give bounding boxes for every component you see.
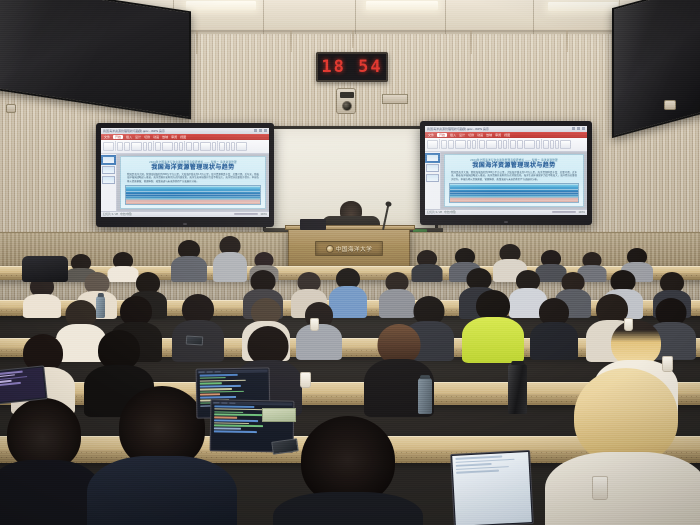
ribbon-tab-2[interactable]: 插入 — [126, 135, 132, 139]
laptop-bright-right[interactable] — [450, 450, 534, 525]
notebook[interactable] — [262, 408, 296, 422]
paper-cup[interactable] — [310, 318, 319, 331]
status-bar: 幻灯片 3 / 28 中文(中国) 100% — [425, 209, 587, 215]
slide-ocean-photo — [449, 183, 579, 203]
slide-ocean-photo — [125, 185, 261, 205]
ribbon-tab-4[interactable]: 切换 — [144, 135, 150, 139]
university-name: 中国海洋大学 — [336, 245, 373, 253]
document-screen[interactable] — [0, 367, 45, 402]
slide-thumbnail[interactable] — [102, 176, 115, 184]
blonde-foreground-head — [574, 368, 678, 464]
ribbon-button[interactable] — [143, 142, 147, 151]
zoom-slider[interactable] — [552, 211, 576, 213]
clock-time: 18 54 — [321, 57, 382, 77]
ribbon-button[interactable] — [486, 140, 497, 149]
ribbon-button[interactable] — [212, 142, 216, 151]
zoom-level[interactable]: 100% — [578, 211, 585, 214]
ribbon-button[interactable] — [550, 140, 554, 149]
ribbon-button[interactable] — [226, 142, 230, 151]
right-wall-tv[interactable] — [612, 0, 700, 138]
university-plaque: 中国海洋大学 — [315, 241, 383, 256]
ribbon-tab-8[interactable]: 视图 — [504, 133, 510, 137]
ribbon-tab-3[interactable]: 设计 — [459, 133, 465, 137]
ribbon-button[interactable] — [193, 142, 199, 151]
app-title: 我国海洋资源管理现状与趋势.pptx - WPS 演示 — [103, 129, 165, 133]
window-controls[interactable] — [572, 127, 585, 130]
water-bottle[interactable] — [418, 378, 432, 414]
slide-thumbnail[interactable] — [102, 156, 115, 164]
ribbon-tab-8[interactable]: 视图 — [180, 135, 186, 139]
app-title: 我国海洋资源管理现状与趋势.pptx - WPS 演示 — [427, 127, 489, 131]
slide-title: 我国海洋资源管理现状与趋势 — [449, 163, 579, 170]
paper-cup[interactable] — [624, 318, 633, 331]
ribbon-button[interactable] — [503, 140, 507, 149]
slide-canvas[interactable]: 2024年全国海洋与渔业资源管理高级研修班 —— 专题二 海洋资源管理 我国海洋… — [117, 154, 269, 211]
ribbon-tab-7[interactable]: 审阅 — [495, 133, 501, 137]
ribbon-button[interactable] — [448, 140, 454, 149]
zoom-slider[interactable] — [234, 213, 258, 215]
display-surface: 我国海洋资源管理现状与趋势.pptx - WPS 演示 文件 开始 插入 设计 … — [101, 128, 269, 217]
slide-thumbnail-pane[interactable] — [101, 154, 117, 211]
ponytail-head — [378, 324, 421, 364]
ribbon-button[interactable] — [455, 140, 466, 149]
ribbon-tab-5[interactable]: 动画 — [153, 135, 159, 139]
zoom-level[interactable]: 100% — [260, 213, 267, 216]
ribbon-button[interactable] — [427, 140, 438, 149]
bag[interactable] — [22, 256, 68, 282]
navy-jacket-student — [87, 456, 237, 525]
ribbon-tab-1[interactable]: 开始 — [437, 133, 447, 137]
display-indicator-led — [504, 221, 508, 223]
paper-cup[interactable] — [300, 372, 311, 388]
language-indicator[interactable]: 中文(中国) — [444, 210, 456, 214]
status-bar: 幻灯片 3 / 28 中文(中国) 100% — [101, 211, 269, 217]
ribbon-button[interactable] — [124, 142, 130, 151]
presentation-slide: 2024年全国海洋与渔业资源管理高级研修班 —— 专题二 海洋资源管理 我国海洋… — [120, 156, 266, 209]
ribbon-button[interactable] — [517, 140, 523, 149]
audience-member — [0, 398, 92, 525]
lecture-hall-scene: 18 54 我国海洋资源管理现状与趋势.pptx - WPS 演示 文件 开始 … — [0, 0, 700, 525]
ribbon-button[interactable] — [472, 140, 476, 149]
slide-counter: 幻灯片 3 / 28 — [103, 212, 118, 216]
ribbon-button[interactable] — [498, 140, 502, 149]
audience-member — [298, 302, 340, 358]
slide-thumbnail[interactable] — [102, 166, 115, 174]
wall-camera — [336, 88, 356, 114]
paper-cup[interactable] — [592, 476, 608, 500]
ribbon-button[interactable] — [200, 142, 211, 151]
tv-glare — [614, 0, 700, 136]
ribbon-tab-5[interactable]: 动画 — [477, 133, 483, 137]
wall-outlet — [6, 104, 16, 113]
ribbon-button[interactable] — [524, 140, 535, 149]
ribbon-button[interactable] — [174, 142, 178, 151]
ribbon-button[interactable] — [131, 142, 142, 151]
window-controls[interactable] — [254, 129, 267, 132]
ribbon-button[interactable] — [162, 142, 173, 151]
ribbon-button[interactable] — [117, 142, 123, 151]
slide-title: 我国海洋资源管理现状与趋势 — [125, 165, 261, 172]
ribbon-button[interactable] — [231, 142, 235, 151]
ribbon-button[interactable] — [186, 142, 192, 151]
camera-vent — [340, 92, 354, 98]
audience-member — [174, 294, 222, 358]
ribbon-tab-6[interactable]: 放映 — [162, 135, 168, 139]
left-projection-display[interactable]: 我国海洋资源管理现状与趋势.pptx - WPS 演示 文件 开始 插入 设计 … — [96, 123, 274, 227]
wall-outlet — [664, 100, 676, 110]
presentation-slide: 2024年全国海洋与渔业资源管理高级研修班 —— 专题二 海洋资源管理 我国海洋… — [444, 154, 584, 207]
slide-eyebrow: 2024年全国海洋与渔业资源管理高级研修班 —— 专题二 海洋资源管理 — [449, 158, 579, 162]
ribbon-tab-3[interactable]: 设计 — [135, 135, 141, 139]
ribbon-toolbar[interactable] — [425, 138, 587, 152]
right-projection-display[interactable]: 我国海洋资源管理现状与趋势.pptx - WPS 演示 文件 开始 插入 设计 … — [420, 121, 592, 225]
laptop-left-edge[interactable] — [0, 365, 48, 404]
slide-body-text: 我国是海洋大国，管辖海域面积约300万平方公里，大陆海岸线长约1.8万公里，海洋… — [449, 171, 579, 181]
digital-wall-clock: 18 54 — [316, 52, 388, 82]
ribbon-button[interactable] — [179, 142, 183, 151]
slide-canvas[interactable]: 2024年全国海洋与渔业资源管理高级研修班 —— 专题二 海洋资源管理 我国海洋… — [441, 152, 587, 209]
ribbon-tab-6[interactable]: 放映 — [486, 133, 492, 137]
ribbon-button[interactable] — [441, 140, 447, 149]
ribbon-button[interactable] — [560, 140, 571, 149]
slide-body-text: 我国是海洋大国，管辖海域面积约300万平方公里，大陆海岸线长约1.8万公里，海洋… — [125, 173, 261, 183]
water-bottle[interactable] — [96, 296, 105, 318]
slide-counter: 幻灯片 3 / 28 — [427, 210, 442, 214]
display-indicator-led — [183, 223, 187, 225]
slide-thumbnail[interactable] — [426, 164, 439, 172]
ribbon-button[interactable] — [219, 142, 225, 151]
ribbon-tab-0[interactable]: 文件 — [428, 133, 434, 137]
display-surface: 我国海洋资源管理现状与趋势.pptx - WPS 演示 文件 开始 插入 设计 … — [425, 126, 587, 215]
ribbon-tab-0[interactable]: 文件 — [104, 135, 110, 139]
audience-member — [560, 368, 692, 525]
ribbon-tab-7[interactable]: 审阅 — [171, 135, 177, 139]
lectern: 中国海洋大学 — [288, 228, 410, 270]
audience-member — [172, 240, 206, 280]
ribbon-button[interactable] — [479, 140, 485, 149]
laptop-lid — [0, 365, 48, 404]
ribbon-button[interactable] — [543, 140, 549, 149]
editor-body: 2024年全国海洋与渔业资源管理高级研修班 —— 专题二 海洋资源管理 我国海洋… — [101, 154, 269, 211]
lectern-monitor[interactable] — [300, 219, 326, 230]
thermos-bottle[interactable] — [508, 364, 527, 414]
slide-thumbnail-pane[interactable] — [425, 152, 441, 209]
audience-member — [288, 416, 408, 525]
laptop-lid — [450, 450, 534, 525]
slide-eyebrow: 2024年全国海洋与渔业资源管理高级研修班 —— 专题二 海洋资源管理 — [125, 160, 261, 164]
ribbon-button[interactable] — [510, 140, 516, 149]
audience-member — [532, 298, 576, 358]
audience-member — [214, 236, 246, 280]
ribbon-toolbar[interactable] — [101, 140, 269, 154]
slide-thumbnail[interactable] — [426, 174, 439, 182]
paper-cup[interactable] — [662, 356, 673, 372]
ribbon-button[interactable] — [148, 142, 152, 151]
ribbon-button[interactable] — [155, 142, 161, 151]
ribbon-tab-1[interactable]: 开始 — [113, 135, 123, 139]
ribbon-button[interactable] — [555, 140, 559, 149]
smartphone[interactable] — [186, 335, 204, 345]
yellow-shirt-student — [462, 317, 524, 363]
wall-speaker — [382, 94, 408, 104]
ribbon-button[interactable] — [536, 140, 540, 149]
ribbon-tab-4[interactable]: 切换 — [468, 133, 474, 137]
ribbon-button[interactable] — [467, 140, 471, 149]
ribbon-tab-2[interactable]: 插入 — [450, 133, 456, 137]
camera-lens-icon — [342, 101, 352, 111]
document-screen[interactable] — [452, 452, 532, 525]
university-seal-icon — [326, 245, 334, 253]
audience-member — [466, 290, 520, 360]
slide-thumbnail[interactable] — [426, 154, 439, 162]
audience-member — [412, 250, 442, 280]
editor-body: 2024年全国海洋与渔业资源管理高级研修班 —— 专题二 海洋资源管理 我国海洋… — [425, 152, 587, 209]
ribbon-button[interactable] — [103, 142, 114, 151]
ribbon-button[interactable] — [236, 142, 247, 151]
language-indicator[interactable]: 中文(中国) — [120, 212, 132, 216]
